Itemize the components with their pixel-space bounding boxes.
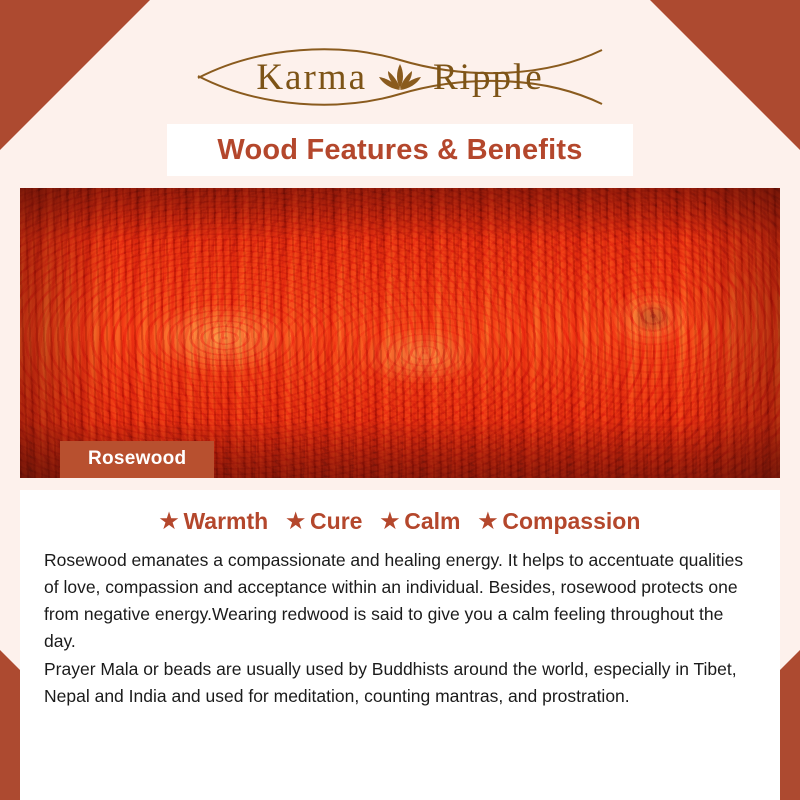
wood-type-label: Rosewood [60,441,214,478]
description-card: ★ Warmth ★ Cure ★ Calm ★ Compassion Rose… [20,490,780,800]
keyword-label: Cure [310,508,362,535]
keyword-label: Warmth [183,508,268,535]
keyword-item-compassion: ★ Compassion [479,508,641,535]
page-title: Wood Features & Benefits [217,134,582,167]
title-banner: Wood Features & Benefits [167,124,633,176]
description-paragraph-1: Rosewood emanates a compassionate and he… [44,547,756,655]
star-icon: ★ [479,511,498,532]
keyword-item-warmth: ★ Warmth [160,508,269,535]
star-icon: ★ [160,511,179,532]
star-icon: ★ [380,511,399,532]
keyword-item-cure: ★ Cure [286,508,362,535]
brand-word-right: Ripple [433,56,544,99]
lotus-icon [377,62,423,92]
page-content: Karma Ripple Wood Features & Benefits Ro… [0,0,800,800]
wood-vignette [20,188,780,478]
star-icon: ★ [286,511,305,532]
brand-word-left: Karma [256,56,367,99]
keyword-label: Calm [404,508,460,535]
brand-wordmark: Karma Ripple [256,56,543,99]
keyword-list: ★ Warmth ★ Cure ★ Calm ★ Compassion [44,508,756,535]
rosewood-grain-photo: Rosewood [20,188,780,478]
keyword-label: Compassion [502,508,640,535]
brand-logo: Karma Ripple [190,34,610,120]
description-paragraph-2: Prayer Mala or beads are usually used by… [44,656,756,710]
keyword-item-calm: ★ Calm [380,508,460,535]
